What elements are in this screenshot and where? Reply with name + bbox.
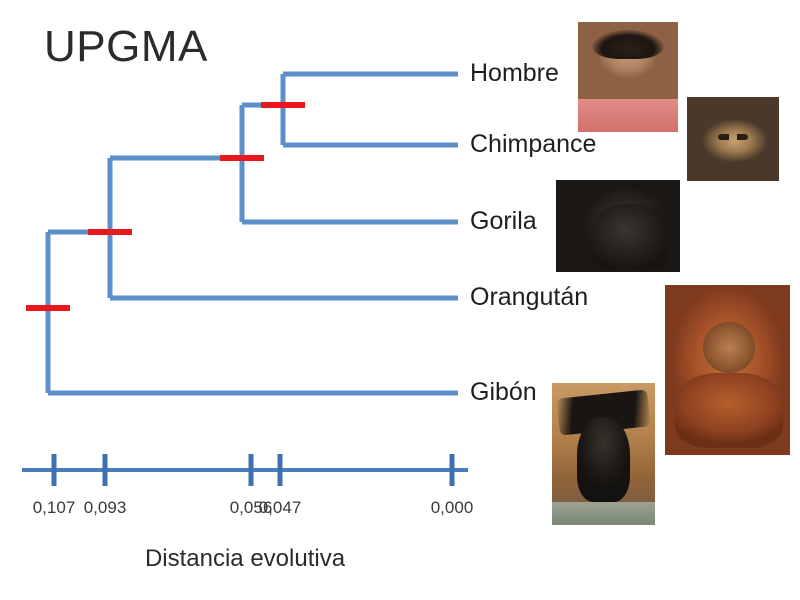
distance-axis [22, 454, 468, 486]
leaf-label-orangutn: Orangután [470, 285, 588, 310]
upgma-figure: UPGMA HombreChimpanceGorilaOrangutánGibó… [0, 0, 800, 600]
axis-title: Distancia evolutiva [0, 545, 800, 573]
leaf-label-hombre: Hombre [470, 61, 559, 86]
human-photo [578, 22, 678, 132]
axis-tick-label-3: 0,047 [259, 498, 302, 518]
leaf-label-gorila: Gorila [470, 209, 537, 234]
axis-title-text: Distancia evolutiva [145, 545, 345, 573]
axis-tick-label-1: 0,093 [84, 498, 127, 518]
gorilla-photo [556, 180, 680, 272]
chimpanzee-photo [687, 97, 779, 181]
axis-tick-label-4: 0,000 [431, 498, 474, 518]
leaf-label-gibn: Gibón [470, 380, 537, 405]
gibbon-photo [552, 383, 655, 525]
leaf-label-chimpance: Chimpance [470, 132, 596, 157]
orangutan-photo [665, 285, 790, 455]
axis-tick-label-0: 0,107 [33, 498, 76, 518]
tree-node-marks [26, 105, 305, 308]
